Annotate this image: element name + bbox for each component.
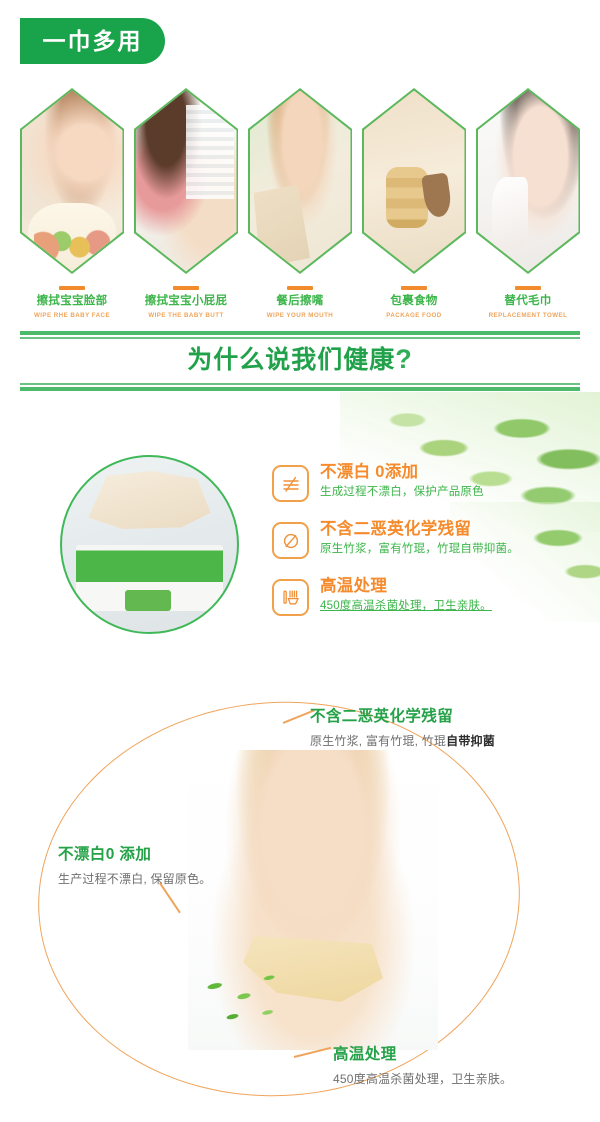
feature-list: 不漂白 0添加 生成过程不漂白，保护产品原色 不含二恶英化学残留 原生竹浆，富有…	[272, 462, 592, 633]
hexagon-clip	[364, 91, 465, 272]
callout-subtitle: 生产过程不漂白, 保留原色。	[58, 870, 211, 887]
callout-high-temp: 高温处理 450度高温杀菌处理，卫生亲肤。	[333, 1042, 512, 1087]
feature-title: 不漂白 0添加	[320, 463, 484, 482]
use-photo-row	[20, 88, 580, 278]
callout-subtitle-bold: 自带抑菌	[446, 734, 495, 748]
feature-title: 高温处理	[320, 577, 492, 596]
dash-icon	[173, 286, 199, 290]
hexagon-clip	[22, 91, 123, 272]
callout-subtitle-normal: 450度高温杀菌处理，卫生亲肤。	[333, 1072, 512, 1086]
use-photo-cell	[362, 88, 466, 278]
feature-text: 不含二恶英化学残留 原生竹浆，富有竹琨，竹琨自带抑菌。	[320, 519, 519, 557]
divider-top	[20, 331, 580, 339]
dash-icon	[287, 286, 313, 290]
brand-logo-decor	[125, 590, 171, 611]
feature-subtitle: 原生竹浆，富有竹琨，竹琨自带抑菌。	[320, 542, 519, 557]
dash-icon	[401, 286, 427, 290]
feature-item: 高温处理 450度高温杀菌处理，卫生亲肤。	[272, 576, 592, 616]
cookies-photo	[364, 91, 465, 272]
product-detail-page: 一巾多用	[0, 0, 600, 1122]
use-caption: 替代毛巾 REPLACEMENT TOWEL	[476, 286, 580, 319]
use-caption-cn: 餐后擦嘴	[248, 295, 352, 309]
use-caption-cn: 擦拭宝宝小屁屁	[134, 295, 238, 309]
feature-subtitle: 450度高温杀菌处理，卫生亲肤。	[320, 599, 492, 614]
use-caption-en: REPLACEMENT TOWEL	[476, 312, 580, 319]
dash-icon	[59, 286, 85, 290]
callout-subtitle-normal: 原生竹浆, 富有竹琨, 竹琨	[310, 734, 446, 748]
baby-face-photo	[22, 91, 123, 272]
dash-icon	[515, 286, 541, 290]
use-caption: 餐后擦嘴 WIPE YOUR MOUTH	[248, 286, 352, 319]
hexagon-clip	[478, 91, 579, 272]
section-header-uses: 一巾多用	[0, 18, 600, 64]
feature-subtitle-underlined: 450度高温杀菌处理，卫生亲肤。	[320, 600, 492, 612]
hexagon-clip	[136, 91, 237, 272]
tissue-sheet-decor	[83, 471, 216, 552]
use-caption-row: 擦拭宝宝脸部 WIPE RHE BABY FACE 擦拭宝宝小屁屁 WIPE T…	[20, 286, 580, 319]
feature-item: 不含二恶英化学残留 原生竹浆，富有竹琨，竹琨自带抑菌。	[272, 519, 592, 559]
use-photo-cell	[20, 88, 124, 278]
question-mark-icon: ?	[395, 344, 413, 374]
use-caption-cn: 替代毛巾	[476, 295, 580, 309]
callout-title: 高温处理	[333, 1042, 512, 1064]
hexagon-frame	[20, 88, 124, 274]
divider-thin-line	[20, 383, 580, 385]
use-caption-en: PACKAGE FOOD	[362, 312, 466, 319]
callout-title: 不含二恶英化学残留	[310, 704, 495, 726]
hexagon-frame	[248, 88, 352, 274]
thermometer-icon	[272, 579, 309, 616]
page-title-text: 为什么说我们健康	[187, 346, 395, 374]
callout-dioxin: 不含二恶英化学残留 原生竹浆, 富有竹琨, 竹琨自带抑菌	[310, 704, 495, 749]
use-caption-cn: 包裹食物	[362, 295, 466, 309]
use-caption: 擦拭宝宝小屁屁 WIPE THE BABY BUTT	[134, 286, 238, 319]
use-photo-cell	[134, 88, 238, 278]
callout-subtitle-normal: 生产过程不漂白, 保留原色。	[58, 872, 211, 886]
use-photo-cell	[248, 88, 352, 278]
child-mouth-photo	[250, 91, 351, 272]
use-caption: 擦拭宝宝脸部 WIPE RHE BABY FACE	[20, 286, 124, 319]
hexagon-frame	[134, 88, 238, 274]
baby-diaper-photo	[136, 91, 237, 272]
circle-slash-icon	[272, 522, 309, 559]
hexagon-frame	[362, 88, 466, 274]
page-title: 为什么说我们健康?	[0, 340, 600, 376]
callout-subtitle: 原生竹浆, 富有竹琨, 竹琨自带抑菌	[310, 732, 495, 749]
banner-title: 一巾多用	[43, 30, 143, 53]
use-caption-en: WIPE RHE BABY FACE	[20, 312, 124, 319]
feature-text: 不漂白 0添加 生成过程不漂白，保护产品原色	[320, 462, 484, 500]
callout-section: 不含二恶英化学残留 原生竹浆, 富有竹琨, 竹琨自带抑菌 不漂白0 添加 生产过…	[0, 690, 600, 1122]
hexagon-frame	[476, 88, 580, 274]
feature-subtitle: 生成过程不漂白，保护产品原色	[320, 485, 484, 500]
use-photo-cell	[476, 88, 580, 278]
divider-bottom	[20, 383, 580, 391]
feature-item: 不漂白 0添加 生成过程不漂白，保护产品原色	[272, 462, 592, 502]
product-photo	[60, 455, 239, 634]
divider-thick-line	[20, 387, 580, 391]
use-caption: 包裹食物 PACKAGE FOOD	[362, 286, 466, 319]
not-equal-icon	[272, 465, 309, 502]
use-caption-en: WIPE THE BABY BUTT	[134, 312, 238, 319]
divider-thin-line	[20, 337, 580, 339]
hexagon-clip	[250, 91, 351, 272]
divider-thick-line	[20, 331, 580, 335]
callout-subtitle: 450度高温杀菌处理，卫生亲肤。	[333, 1070, 512, 1087]
use-caption-en: WIPE YOUR MOUTH	[248, 312, 352, 319]
callout-no-bleach: 不漂白0 添加 生产过程不漂白, 保留原色。	[58, 842, 211, 887]
callout-title: 不漂白0 添加	[58, 842, 211, 864]
banner-pill: 一巾多用	[20, 18, 165, 64]
use-caption-cn: 擦拭宝宝脸部	[20, 295, 124, 309]
shirt-print-decor	[34, 228, 111, 261]
feature-title: 不含二恶英化学残留	[320, 520, 519, 539]
woman-face-photo	[478, 91, 579, 272]
feature-text: 高温处理 450度高温杀菌处理，卫生亲肤。	[320, 576, 492, 614]
